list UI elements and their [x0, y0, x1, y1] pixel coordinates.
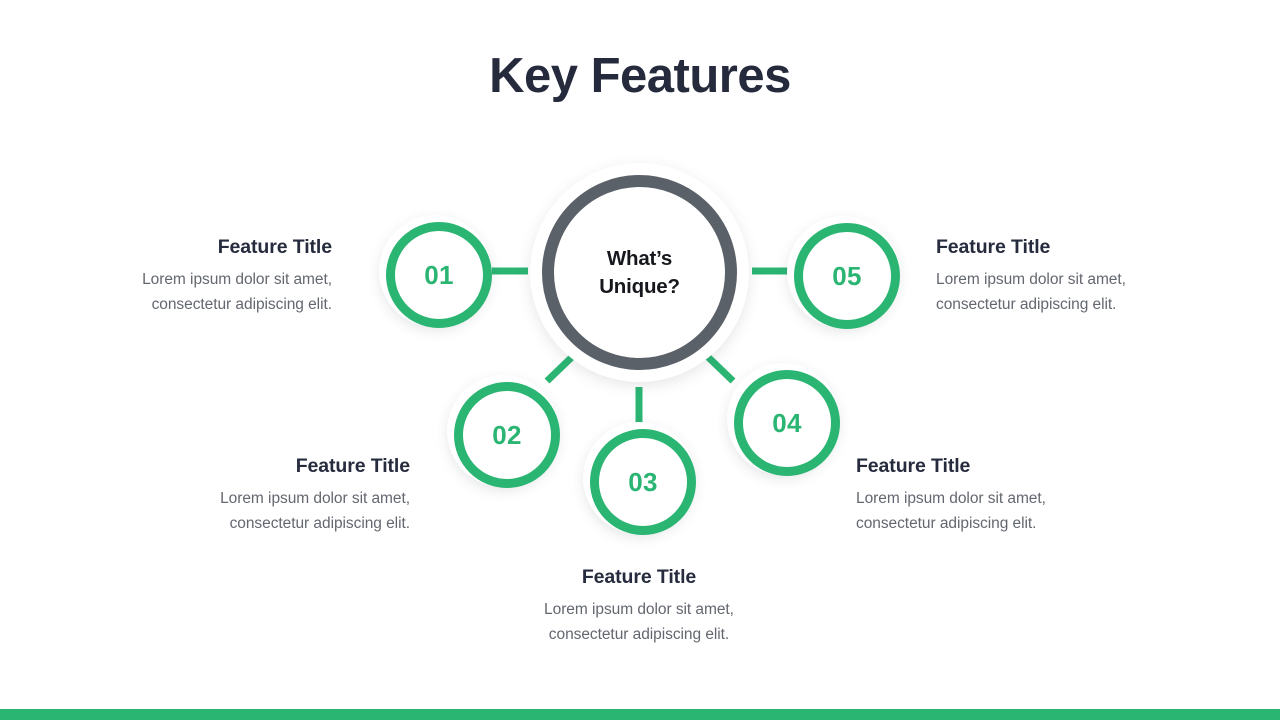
feature-node-05[interactable]: 05: [787, 216, 899, 328]
feature-title-04: Feature Title: [856, 455, 1146, 478]
feature-body-02-line1: Lorem ipsum dolor sit amet,: [220, 490, 410, 507]
feature-body-03-line2: consectetur adipiscing elit.: [549, 626, 729, 643]
feature-node-03-ring: 03: [590, 429, 696, 535]
feature-node-03[interactable]: 03: [583, 422, 695, 534]
feature-title-03: Feature Title: [499, 566, 779, 589]
feature-node-04[interactable]: 04: [727, 363, 839, 475]
feature-title-05: Feature Title: [936, 236, 1226, 259]
feature-body-04-line1: Lorem ipsum dolor sit amet,: [856, 490, 1046, 507]
feature-node-05-ring: 05: [794, 223, 900, 329]
feature-node-01[interactable]: 01: [379, 215, 491, 327]
feature-body-03-line1: Lorem ipsum dolor sit amet,: [544, 601, 734, 618]
center-hub-ring: What’s Unique?: [542, 175, 737, 370]
feature-title-02: Feature Title: [130, 455, 410, 478]
center-hub-label-line2: Unique?: [599, 275, 680, 298]
feature-node-05-number: 05: [832, 261, 862, 292]
feature-body-04: Lorem ipsum dolor sit amet, consectetur …: [856, 487, 1146, 536]
feature-node-03-number: 03: [628, 467, 658, 498]
center-hub-label: What’s Unique?: [599, 245, 680, 299]
center-hub-label-line1: What’s: [607, 247, 672, 270]
feature-node-02-ring: 02: [454, 382, 560, 488]
feature-body-02-line2: consectetur adipiscing elit.: [230, 515, 410, 532]
feature-body-01: Lorem ipsum dolor sit amet, consectetur …: [60, 268, 332, 317]
center-hub[interactable]: What’s Unique?: [530, 163, 749, 382]
feature-text-03: Feature Title Lorem ipsum dolor sit amet…: [499, 566, 779, 647]
key-features-diagram: What’s Unique? 01 02 03 04: [0, 0, 1280, 720]
feature-text-02: Feature Title Lorem ipsum dolor sit amet…: [130, 455, 410, 536]
feature-title-01: Feature Title: [60, 236, 332, 259]
feature-node-01-ring: 01: [386, 222, 492, 328]
feature-node-04-ring: 04: [734, 370, 840, 476]
feature-body-05-line2: consectetur adipiscing elit.: [936, 296, 1116, 313]
feature-body-01-line2: consectetur adipiscing elit.: [152, 296, 332, 313]
connector-04-to-hub: [708, 357, 733, 381]
feature-body-05-line1: Lorem ipsum dolor sit amet,: [936, 271, 1126, 288]
feature-text-01: Feature Title Lorem ipsum dolor sit amet…: [60, 236, 332, 317]
feature-node-04-number: 04: [772, 408, 802, 439]
feature-body-02: Lorem ipsum dolor sit amet, consectetur …: [130, 487, 410, 536]
bottom-accent-bar: [0, 709, 1280, 720]
feature-node-01-number: 01: [424, 260, 454, 291]
feature-body-01-line1: Lorem ipsum dolor sit amet,: [142, 271, 332, 288]
feature-text-04: Feature Title Lorem ipsum dolor sit amet…: [856, 455, 1146, 536]
feature-body-05: Lorem ipsum dolor sit amet, consectetur …: [936, 268, 1226, 317]
connector-02-to-hub: [547, 357, 572, 381]
slide-canvas: Key Features What’s Unique? 01: [0, 0, 1280, 720]
feature-text-05: Feature Title Lorem ipsum dolor sit amet…: [936, 236, 1226, 317]
feature-node-02-number: 02: [492, 420, 522, 451]
feature-body-04-line2: consectetur adipiscing elit.: [856, 515, 1036, 532]
feature-body-03: Lorem ipsum dolor sit amet, consectetur …: [499, 598, 779, 647]
feature-node-02[interactable]: 02: [447, 375, 559, 487]
